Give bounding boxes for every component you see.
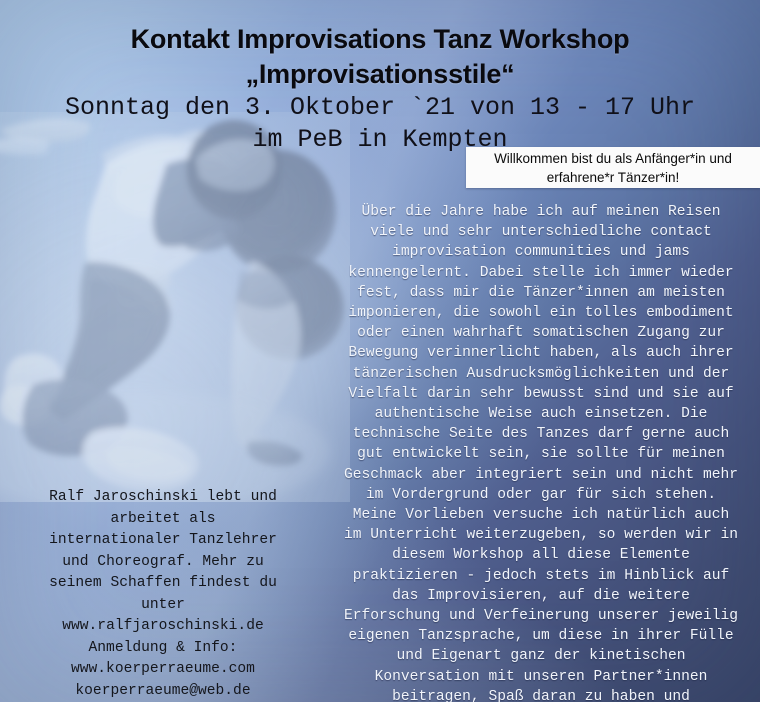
body-line: Über die Jahre habe ich auf meinen Reise… bbox=[324, 202, 758, 222]
instructor-bio-and-contact: Ralf Jaroschinski lebt und arbeitet als … bbox=[10, 487, 316, 702]
body-line: im Unterricht weiterzugeben, so werden w… bbox=[324, 525, 758, 545]
body-line: gut entwickelt sein, sie sollte für mein… bbox=[324, 444, 758, 464]
contact-improvisation-dancers-photo bbox=[0, 112, 350, 502]
registration-label: Anmeldung & Info: bbox=[10, 638, 316, 660]
welcome-line-1: Willkommen bist du als Anfänger*in und bbox=[494, 149, 732, 168]
workshop-description-text: Über die Jahre habe ich auf meinen Reise… bbox=[324, 202, 758, 702]
body-line: das Improvisieren, auf die weitere bbox=[324, 586, 758, 606]
website-personal[interactable]: www.ralfjaroschinski.de bbox=[10, 616, 316, 638]
body-line: diesem Workshop all diese Elemente bbox=[324, 545, 758, 565]
website-venue[interactable]: www.koerperraeume.com bbox=[10, 659, 316, 681]
body-line: im Vordergrund oder gar für sich stehen. bbox=[324, 485, 758, 505]
welcome-line-2: erfahrene*r Tänzer*in! bbox=[547, 168, 680, 187]
body-line: beitragen, Spaß daran zu haben und bbox=[324, 687, 758, 702]
bio-line: unter bbox=[10, 595, 316, 617]
body-line: Erforschung und Verfeinerung unserer jew… bbox=[324, 606, 758, 626]
contact-email[interactable]: koerperraeume@web.de bbox=[10, 681, 316, 702]
bio-line: internationaler Tanzlehrer bbox=[10, 530, 316, 552]
body-line: Vielfalt darin sehr bewusst sind und sie… bbox=[324, 384, 758, 404]
body-line: Konversation mit unseren Partner*innen bbox=[324, 667, 758, 687]
body-line: Meine Vorlieben versuche ich natürlich a… bbox=[324, 505, 758, 525]
title-line-1: Kontakt Improvisations Tanz Workshop bbox=[0, 22, 760, 57]
bio-line: und Choreograf. Mehr zu bbox=[10, 552, 316, 574]
welcome-callout-box: Willkommen bist du als Anfänger*in und e… bbox=[466, 147, 760, 188]
body-line: Bewegung verinnerlicht haben, als auch i… bbox=[324, 343, 758, 363]
body-line: fest, dass mir die Tänzer*innen am meist… bbox=[324, 283, 758, 303]
poster-title: Kontakt Improvisations Tanz Workshop „Im… bbox=[0, 22, 760, 92]
workshop-poster: Kontakt Improvisations Tanz Workshop „Im… bbox=[0, 0, 760, 702]
body-line: kennengelernt. Dabei stelle ich immer wi… bbox=[324, 263, 758, 283]
body-line: authentische Weise auch einsetzen. Die bbox=[324, 404, 758, 424]
body-line: und Eigenart ganz der kinetischen bbox=[324, 646, 758, 666]
body-line: praktizieren - jedoch stets im Hinblick … bbox=[324, 566, 758, 586]
body-line: improvisation communities und jams bbox=[324, 242, 758, 262]
bio-line: Ralf Jaroschinski lebt und bbox=[10, 487, 316, 509]
body-line: technische Seite des Tanzes darf gerne a… bbox=[324, 424, 758, 444]
body-line: tänzerischen Ausdrucksmöglichkeiten und … bbox=[324, 364, 758, 384]
body-line: Geschmack aber integriert sein und nicht… bbox=[324, 465, 758, 485]
date-line: Sonntag den 3. Oktober `21 von 13 - 17 U… bbox=[0, 92, 760, 124]
body-line: imponieren, die sowohl ein tolles embodi… bbox=[324, 303, 758, 323]
body-line: oder einen wahrhaft somatischen Zugang z… bbox=[324, 323, 758, 343]
bio-line: arbeitet als bbox=[10, 509, 316, 531]
title-line-2: „Improvisationsstile“ bbox=[0, 57, 760, 92]
body-line: viele und sehr unterschiedliche contact bbox=[324, 222, 758, 242]
body-line: eigenen Tanzsprache, um diese in ihrer F… bbox=[324, 626, 758, 646]
bio-line: seinem Schaffen findest du bbox=[10, 573, 316, 595]
